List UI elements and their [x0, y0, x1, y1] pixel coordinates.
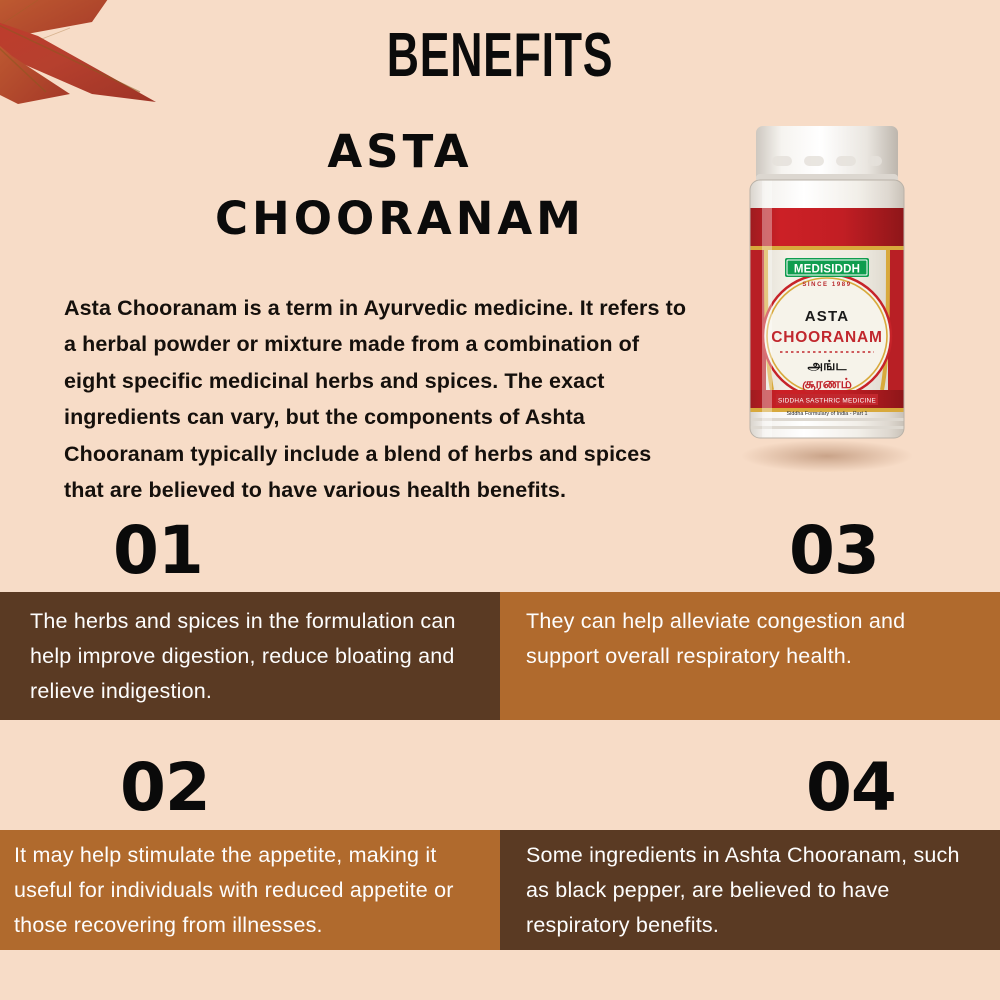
- benefit-card-03: They can help alleviate congestion and s…: [500, 592, 1000, 720]
- bottle-name-tamil1: அங்ட: [808, 357, 848, 373]
- bottle-reference-text: Siddha Formulary of India - Part 1: [787, 411, 868, 417]
- benefit-number-04: 04: [806, 755, 896, 821]
- benefit-number-01: 01: [113, 518, 203, 584]
- page-title: BENEFITS: [140, 25, 860, 87]
- bottle-name-line2: CHOORANAM: [771, 329, 882, 346]
- subtitle-line-1: ASTA: [140, 118, 660, 185]
- benefit-text-02: It may help stimulate the appetite, maki…: [0, 830, 500, 943]
- benefit-number-02: 02: [120, 755, 210, 821]
- product-bottle-image: MEDISIDDH SINCE 1989 ASTA CHOORANAM அங்ட…: [728, 118, 926, 478]
- benefit-card-01: The herbs and spices in the formulation …: [0, 592, 500, 720]
- bottle-brand-tagline: SINCE 1989: [802, 282, 851, 288]
- bottle-category-text: SIDDHA SASTHRIC MEDICINE: [778, 398, 876, 405]
- benefit-text-01: The herbs and spices in the formulation …: [0, 592, 500, 709]
- benefit-text-04: Some ingredients in Ashta Chooranam, suc…: [500, 830, 1000, 943]
- bottle-name-line1: ASTA: [805, 308, 850, 325]
- bottle-name-tamil2: சூரணம்: [802, 375, 852, 393]
- benefit-card-02: It may help stimulate the appetite, maki…: [0, 830, 500, 950]
- benefits-poster: BENEFITS ASTA CHOORANAM Asta Chooranam i…: [0, 0, 1000, 1000]
- intro-paragraph: Asta Chooranam is a term in Ayurvedic me…: [64, 290, 690, 509]
- benefit-card-04: Some ingredients in Ashta Chooranam, suc…: [500, 830, 1000, 950]
- subtitle-line-2: CHOORANAM: [140, 185, 660, 252]
- benefit-text-03: They can help alleviate congestion and s…: [500, 592, 1000, 674]
- bottle-brand-text: MEDISIDDH: [794, 264, 860, 276]
- benefit-number-03: 03: [789, 518, 879, 584]
- page-subtitle: ASTA CHOORANAM: [140, 118, 660, 252]
